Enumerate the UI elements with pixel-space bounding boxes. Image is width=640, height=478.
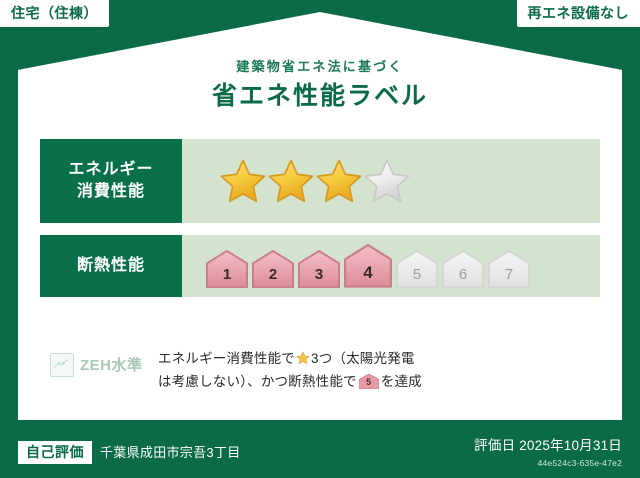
self-evaluation-badge: 自己評価 xyxy=(18,441,92,464)
label-panel: 建築物省エネ法に基づく 省エネ性能ラベル エネルギー 消費性能 xyxy=(18,12,622,420)
property-address: 千葉県成田市宗吾3丁目 xyxy=(100,446,241,459)
grade-number: 5 xyxy=(413,267,421,288)
grade-scale: 1234567 xyxy=(206,244,530,288)
grade-badge-6: 6 xyxy=(442,250,484,288)
grade-number: 1 xyxy=(223,267,231,288)
insulation-performance-row: 断熱性能 1234567 xyxy=(40,235,600,297)
energy-performance-row: エネルギー 消費性能 xyxy=(40,139,600,223)
grade-number: 6 xyxy=(459,267,467,288)
building-type-tag: 住宅（住棟） xyxy=(0,0,109,27)
page-title: 省エネ性能ラベル xyxy=(18,84,622,109)
insulation-performance-label: 断熱性能 xyxy=(40,235,182,297)
footer-right: 評価日 2025年10月31日 44e524c3-635e-47e2 xyxy=(474,439,622,467)
inline-star-icon xyxy=(296,349,310,363)
title-block: 建築物省エネ法に基づく 省エネ性能ラベル xyxy=(18,60,622,109)
footer-left: 自己評価 千葉県成田市宗吾3丁目 xyxy=(18,441,241,464)
energy-label-line2: 消費性能 xyxy=(77,181,145,203)
zeh-standard-label: ZEH水準 xyxy=(80,358,143,373)
grade-badge-5: 5 xyxy=(396,250,438,288)
star-filled-icon xyxy=(316,158,362,204)
energy-performance-value xyxy=(182,139,600,223)
star-empty-icon xyxy=(364,158,410,204)
grade-badge-4: 4 xyxy=(344,244,392,288)
note-text-part4: を達成 xyxy=(381,374,422,389)
star-rating xyxy=(220,158,410,204)
panel-inner: 建築物省エネ法に基づく 省エネ性能ラベル エネルギー 消費性能 xyxy=(18,12,622,420)
performance-rows: エネルギー 消費性能 断熱性能 1234567 xyxy=(40,139,600,309)
insulation-label-line1: 断熱性能 xyxy=(77,255,145,277)
grade-badge-2: 2 xyxy=(252,250,294,288)
document-id: 44e524c3-635e-47e2 xyxy=(474,459,622,468)
energy-performance-label: エネルギー 消費性能 xyxy=(40,139,182,223)
note-text-part3: は考慮しない）、かつ断熱性能で xyxy=(158,374,357,389)
star-filled-icon xyxy=(220,158,266,204)
note-area: ZEH水準 エネルギー消費性能で 3つ（太陽光発電 は考慮しない）、かつ断熱性能… xyxy=(40,344,600,393)
grade-number: 3 xyxy=(315,267,323,288)
note-text-part2: 3つ（太陽光発電 xyxy=(311,351,415,366)
star-filled-icon xyxy=(268,158,314,204)
grade-number: 7 xyxy=(505,267,513,288)
energy-performance-label: 住宅（住棟） 再エネ設備なし 建築物省エネ法に基づく 省エネ性能ラベル エネルギ… xyxy=(0,0,640,478)
insulation-performance-value: 1234567 xyxy=(182,235,600,297)
zeh-icon xyxy=(50,353,74,377)
renewable-equipment-tag: 再エネ設備なし xyxy=(517,0,640,27)
grade-badge-3: 3 xyxy=(298,250,340,288)
inline-grade-badge: 5 xyxy=(359,373,379,388)
grade-badge-1: 1 xyxy=(206,250,248,288)
evaluation-date: 評価日 2025年10月31日 xyxy=(474,439,622,453)
label-subtitle: 建築物省エネ法に基づく xyxy=(18,60,622,73)
note-text-part1: エネルギー消費性能で xyxy=(158,351,295,366)
inline-grade-number: 5 xyxy=(359,373,379,388)
energy-label-line1: エネルギー xyxy=(68,159,153,181)
zeh-standard-marker: ZEH水準 xyxy=(40,344,158,377)
achievement-note: エネルギー消費性能で 3つ（太陽光発電 は考慮しない）、かつ断熱性能で 5 を達… xyxy=(158,344,600,393)
grade-number: 4 xyxy=(363,264,372,288)
label-footer: 自己評価 千葉県成田市宗吾3丁目 評価日 2025年10月31日 44e524c… xyxy=(0,420,640,478)
grade-number: 2 xyxy=(269,267,277,288)
grade-badge-7: 7 xyxy=(488,250,530,288)
